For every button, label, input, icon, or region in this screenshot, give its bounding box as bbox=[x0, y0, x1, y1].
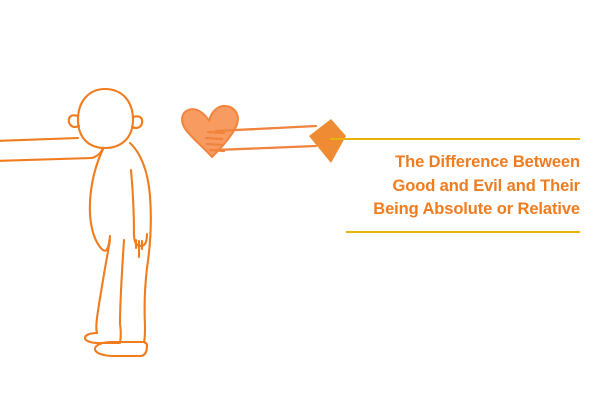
headline-rule-top bbox=[330, 138, 580, 140]
torso-front-contour bbox=[90, 149, 110, 251]
headline-text: The Difference Between Good and Evil and… bbox=[330, 151, 580, 222]
back-leg-contour bbox=[144, 326, 145, 342]
sleeve-bottom-line bbox=[216, 146, 316, 150]
headline-rule-bottom bbox=[346, 231, 580, 233]
front-leg-contour bbox=[96, 240, 110, 333]
finger-line-4 bbox=[210, 150, 224, 151]
standing-person-figure bbox=[0, 89, 151, 356]
headline-block: The Difference Between Good and Evil and… bbox=[330, 138, 580, 233]
front-foot-icon bbox=[95, 342, 147, 356]
head-icon bbox=[78, 89, 133, 148]
back-foot-icon bbox=[85, 324, 121, 343]
headline-line-3: Being Absolute or Relative bbox=[330, 198, 580, 222]
outstretched-arm-top-line bbox=[0, 138, 78, 141]
finger-line-3 bbox=[207, 144, 223, 145]
finger-line-1 bbox=[208, 132, 224, 133]
headline-line-1: The Difference Between bbox=[330, 151, 580, 175]
headline-line-2: Good and Evil and Their bbox=[330, 175, 580, 199]
outstretched-arm-bottom-line bbox=[0, 158, 92, 161]
hanging-arm-inner-line bbox=[131, 170, 134, 234]
slide-canvas: The Difference Between Good and Evil and… bbox=[0, 0, 600, 400]
front-leg-inner bbox=[120, 240, 124, 324]
finger-line-2 bbox=[206, 138, 222, 139]
